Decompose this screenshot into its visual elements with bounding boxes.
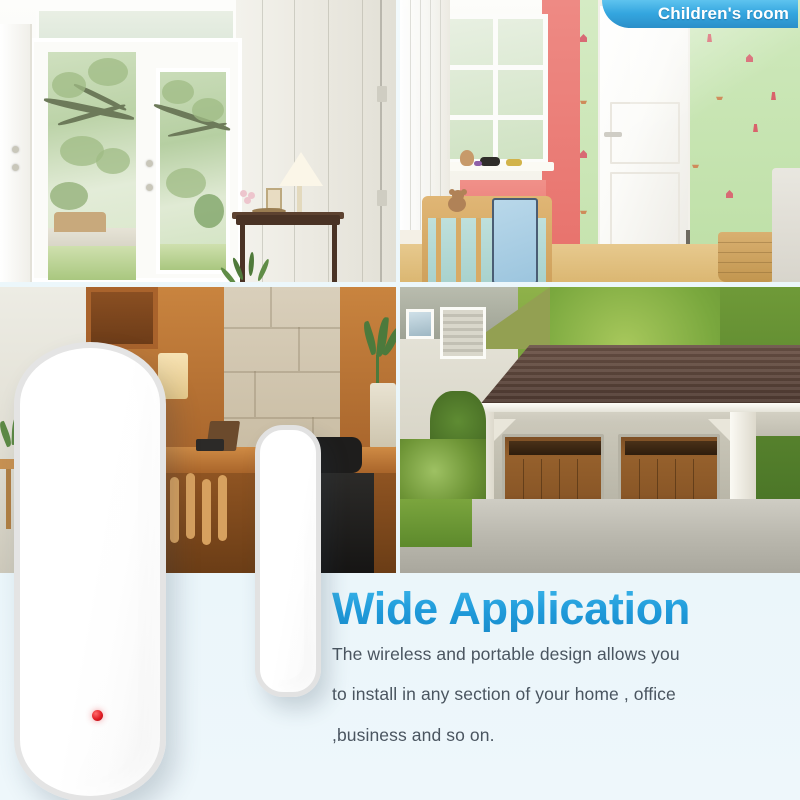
- photo-garage: Garage: [400, 287, 800, 573]
- body-line-2: to install in any section of your home ,…: [332, 686, 774, 704]
- garage-shingle-roof: [478, 345, 800, 407]
- photo-doorway: Doorway: [0, 0, 396, 282]
- tab-children-room-label: Children's room: [658, 4, 789, 24]
- body-line-1: The wireless and portable design allows …: [332, 646, 774, 664]
- led-indicator: [92, 710, 103, 721]
- table-lamp-base: [297, 186, 302, 212]
- kr-teddy-bear: [444, 190, 470, 216]
- potted-plant: [230, 250, 270, 282]
- door-jamb-edge: [380, 0, 382, 282]
- picture-frame: [266, 188, 282, 210]
- kr-blue-blanket: [492, 198, 538, 282]
- product-hero: [0, 320, 340, 800]
- console-table-apron: [236, 215, 340, 225]
- front-lawn: [48, 246, 136, 280]
- kr-window: [442, 14, 548, 164]
- doorway-right-wall: [236, 0, 396, 282]
- kr-door-handle: [604, 132, 622, 137]
- garage-scene: [400, 287, 800, 573]
- marketing-banner: Doorway: [0, 0, 800, 800]
- sensor-magnet-piece: [255, 425, 321, 697]
- door-glass-right: [156, 68, 230, 274]
- photo-children-room: Children's room: [400, 0, 800, 282]
- garage-fascia: [472, 403, 800, 412]
- kr-wicker-basket: [718, 232, 776, 282]
- office-vase: [370, 383, 396, 449]
- headline: Wide Application: [332, 586, 774, 632]
- garage-gable-vent: [440, 307, 486, 359]
- body-line-3: ,business and so on.: [332, 727, 774, 745]
- marketing-copy: Wide Application The wireless and portab…: [332, 586, 774, 767]
- children-room-scene: [400, 0, 800, 282]
- kr-windowsill-toys: [458, 150, 538, 166]
- door-glass-left: [48, 52, 136, 280]
- tab-children-room[interactable]: Children's room: [628, 0, 798, 28]
- doorway-scene: [0, 0, 396, 282]
- outbuilding-roof: [54, 212, 106, 232]
- open-door-leaf: [0, 24, 32, 282]
- garage-lawn: [400, 499, 472, 547]
- sensor-main-body: [14, 342, 166, 800]
- french-door-frame: [30, 38, 242, 282]
- flower-vase: [240, 190, 258, 204]
- table-lamp-shade: [279, 152, 323, 186]
- kr-changing-table: [772, 168, 800, 282]
- garage-upper-window: [406, 309, 434, 339]
